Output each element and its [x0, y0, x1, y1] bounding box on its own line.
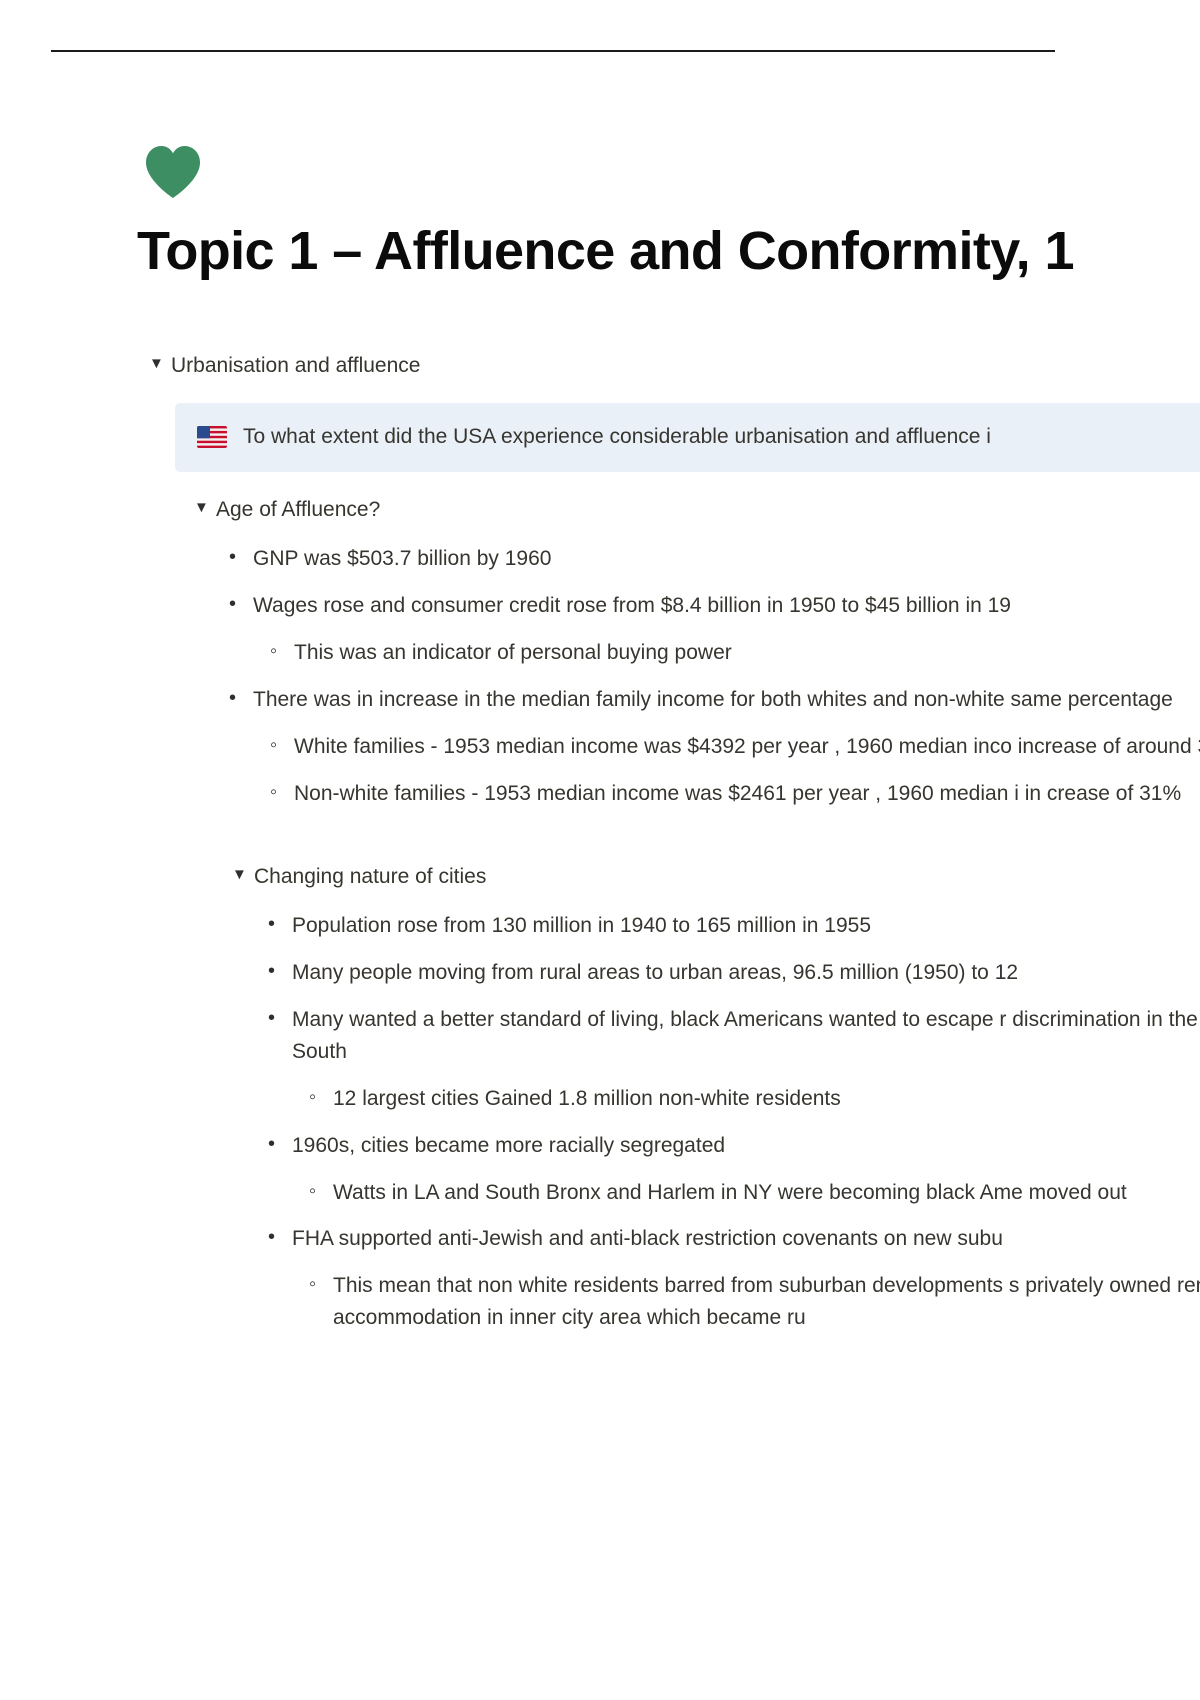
list-item-text: Watts in LA and South Bronx and Harlem i… — [333, 1177, 1200, 1209]
list-item-text: Non-white families - 1953 median income … — [294, 778, 1200, 810]
list-item[interactable]: ◦ 12 largest cities Gained 1.8 million n… — [309, 1083, 1200, 1115]
list-item-text: Population rose from 130 million in 1940… — [292, 910, 871, 942]
us-flag-icon — [197, 426, 227, 448]
chevron-down-icon[interactable]: ▼ — [232, 861, 254, 890]
page-top-divider — [51, 50, 1055, 52]
list-item[interactable]: ◦ White families - 1953 median income wa… — [270, 731, 1200, 763]
list-item[interactable]: • Wages rose and consumer credit rose fr… — [229, 590, 1200, 622]
callout-text: To what extent did the USA experience co… — [243, 422, 991, 452]
list-item[interactable]: • FHA supported anti-Jewish and anti-bla… — [268, 1223, 1200, 1255]
page-icon[interactable] — [137, 128, 215, 206]
list-item-text: This was an indicator of personal buying… — [294, 637, 732, 669]
bullet-marker: ◦ — [270, 731, 294, 760]
list-item-text: 12 largest cities Gained 1.8 million non… — [333, 1083, 841, 1115]
toggle-label: Changing nature of cities — [254, 861, 486, 893]
list-item[interactable]: ◦ Watts in LA and South Bronx and Harlem… — [309, 1177, 1200, 1209]
bullet-marker: • — [229, 590, 253, 619]
list-item[interactable]: • Population rose from 130 million in 19… — [268, 910, 1200, 942]
toggle-age-of-affluence[interactable]: ▼ Age of Affluence? — [194, 494, 1200, 526]
toggle-changing-nature-of-cities[interactable]: ▼ Changing nature of cities — [232, 861, 1200, 893]
list-item[interactable]: ◦ Non-white families - 1953 median incom… — [270, 778, 1200, 810]
toggle-urbanisation-and-affluence[interactable]: ▼ Urbanisation and affluence — [149, 350, 1200, 382]
list-item-text: FHA supported anti-Jewish and anti-black… — [292, 1223, 1003, 1255]
bullet-marker: • — [268, 1004, 292, 1033]
list-item-text: Many people moving from rural areas to u… — [292, 957, 1018, 989]
list-item[interactable]: ◦ This was an indicator of personal buyi… — [270, 637, 1200, 669]
bullet-marker: ◦ — [309, 1270, 333, 1299]
toggle-label: Urbanisation and affluence — [171, 350, 420, 382]
bullet-marker: • — [229, 543, 253, 572]
list-item[interactable]: • Many wanted a better standard of livin… — [268, 1004, 1200, 1068]
bullet-marker: • — [268, 957, 292, 986]
list-item-text: GNP was $503.7 billion by 1960 — [253, 543, 551, 575]
bullet-marker: • — [268, 1223, 292, 1252]
list-item[interactable]: • GNP was $503.7 billion by 1960 — [229, 543, 1200, 575]
document-page: Topic 1 – Affluence and Conformity, 1 ▼ … — [0, 0, 1200, 1700]
chevron-down-icon[interactable]: ▼ — [194, 494, 216, 523]
chevron-down-icon[interactable]: ▼ — [149, 350, 171, 379]
list-item-text: White families - 1953 median income was … — [294, 731, 1200, 763]
bullet-marker: • — [268, 1130, 292, 1159]
list-item-text: There was in increase in the median fami… — [253, 684, 1200, 716]
green-heart-icon — [143, 144, 203, 200]
bullet-marker: ◦ — [270, 778, 294, 807]
bullet-marker: ◦ — [270, 637, 294, 666]
page-title[interactable]: Topic 1 – Affluence and Conformity, 1 — [137, 220, 1200, 284]
list-item[interactable]: • 1960s, cities became more racially seg… — [268, 1130, 1200, 1162]
list-item[interactable]: ◦ This mean that non white residents bar… — [309, 1270, 1200, 1334]
list-item-text: 1960s, cities became more racially segre… — [292, 1130, 725, 1162]
list-item[interactable]: • There was in increase in the median fa… — [229, 684, 1200, 716]
list-item-text: Many wanted a better standard of living,… — [292, 1004, 1200, 1068]
document-content: Topic 1 – Affluence and Conformity, 1 ▼ … — [137, 128, 1200, 1349]
callout-block[interactable]: To what extent did the USA experience co… — [175, 403, 1200, 471]
bullet-marker: ◦ — [309, 1177, 333, 1206]
list-item-text: This mean that non white residents barre… — [333, 1270, 1200, 1334]
bullet-marker: ◦ — [309, 1083, 333, 1112]
toggle-label: Age of Affluence? — [216, 494, 380, 526]
list-item[interactable]: • Many people moving from rural areas to… — [268, 957, 1200, 989]
bullet-marker: • — [268, 910, 292, 939]
bullet-marker: • — [229, 684, 253, 713]
list-item-text: Wages rose and consumer credit rose from… — [253, 590, 1011, 622]
